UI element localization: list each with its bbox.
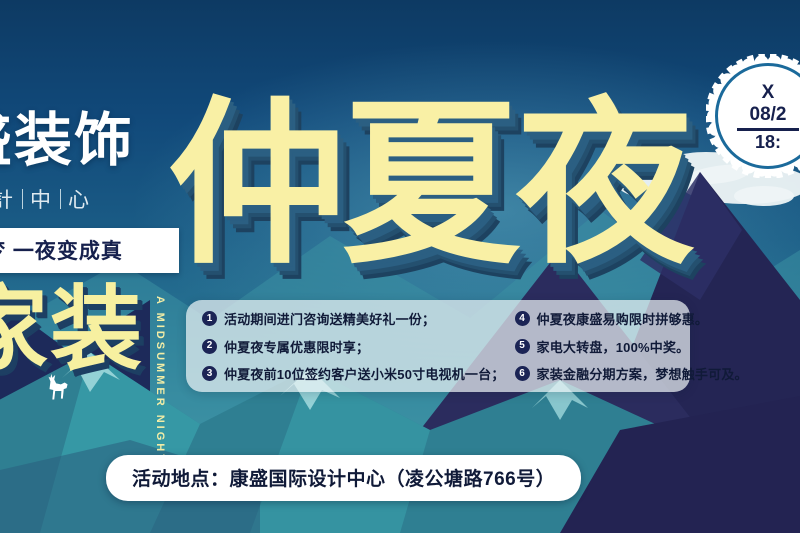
brand-subtitle-char: 心 [68,184,91,214]
big-word: 家装 [0,284,144,376]
list-item-text: 仲夏夜康盛易购限时拼够惠。 [537,309,709,328]
list-item-text: 家装金融分期方案，梦想触手可及。 [537,364,748,383]
headline: 仲夏夜 [168,96,690,274]
brand-subtitle-char: 計 [0,184,15,214]
offers-panel: 1 活动期间进门咨询送精美好礼一份； 2 仲夏夜专属优惠限时享； 3 仲夏夜前1… [186,300,690,392]
list-item-text: 活动期间进门咨询送精美好礼一份； [224,309,435,328]
slogan-box: 装梦 一夜变成真 [0,228,179,273]
list-number: 6 [515,366,530,381]
brand-name: 盛装饰 [0,112,214,170]
list-item: 5 家电大转盘，100%中奖。 [515,337,748,356]
list-item: 2 仲夏夜专属优惠限时享； [202,337,505,356]
divider [60,189,61,209]
list-item: 4 仲夏夜康盛易购限时拼够惠。 [515,309,748,328]
list-number: 2 [202,339,217,354]
list-number: 5 [515,339,530,354]
brand-subtitle: 設 計 中 心 [0,184,214,214]
list-number: 1 [202,311,217,326]
list-item: 1 活动期间进门咨询送精美好礼一份； [202,309,505,328]
address-pill: 活动地点：康盛国际设计中心（凌公塘路766号） [106,455,581,501]
list-item: 3 仲夏夜前10位签约客户送小米50寸电视机一台； [202,364,505,383]
badge-date: 08/2 [750,104,787,127]
brand-logo: 盛装饰 設 計 中 心 装梦 一夜变成真 [0,112,214,273]
vertical-english-text: A MIDSUMMER NIGHT [154,296,166,464]
list-item-text: 仲夏夜前10位签约客户送小米50寸电视机一台； [224,364,505,383]
offers-column-right: 4 仲夏夜康盛易购限时拼够惠。 5 家电大转盘，100%中奖。 6 家装金融分期… [515,309,748,383]
list-item: 6 家装金融分期方案，梦想触手可及。 [515,364,748,383]
list-number: 3 [202,366,217,381]
date-badge: X 08/2 18: [706,54,800,178]
brand-subtitle-char: 中 [30,184,53,214]
promo-banner: 盛装饰 設 計 中 心 装梦 一夜变成真 家装 A MIDSUMMER NIGH… [0,0,800,533]
badge-divider [737,128,799,131]
offers-column-left: 1 活动期间进门咨询送精美好礼一份； 2 仲夏夜专属优惠限时享； 3 仲夏夜前1… [202,309,505,383]
badge-symbol: X [762,83,775,104]
list-item-text: 家电大转盘，100%中奖。 [537,337,690,356]
list-number: 4 [515,311,530,326]
divider [22,189,23,209]
badge-time: 18: [755,133,781,153]
list-item-text: 仲夏夜专属优惠限时享； [224,337,369,356]
